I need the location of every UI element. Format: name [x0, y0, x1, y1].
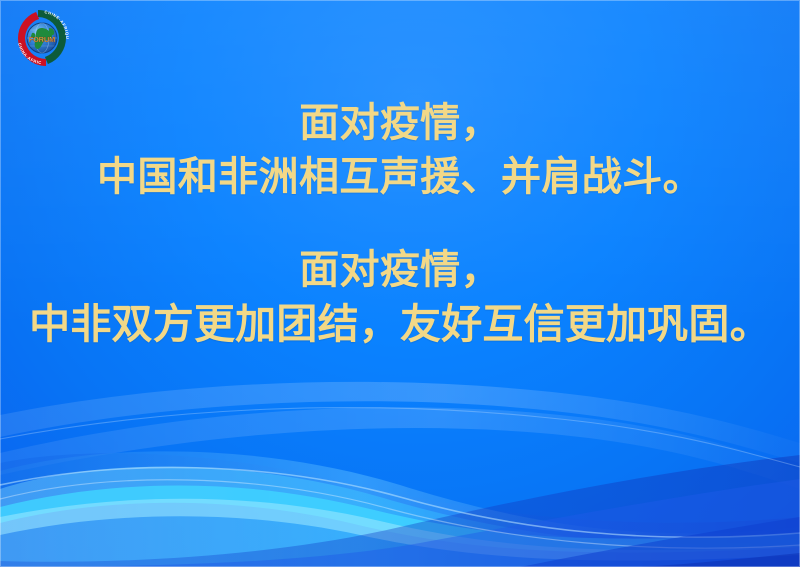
focac-forum-logo: FORUM CHINE-AFRIQUE CHINA-AFRICA [8, 6, 76, 70]
logo-forum-word: FORUM [29, 35, 55, 44]
wave-decoration [0, 367, 800, 567]
slide-canvas: FORUM CHINE-AFRIQUE CHINA-AFRICA 面对疫情， 中… [0, 0, 800, 567]
